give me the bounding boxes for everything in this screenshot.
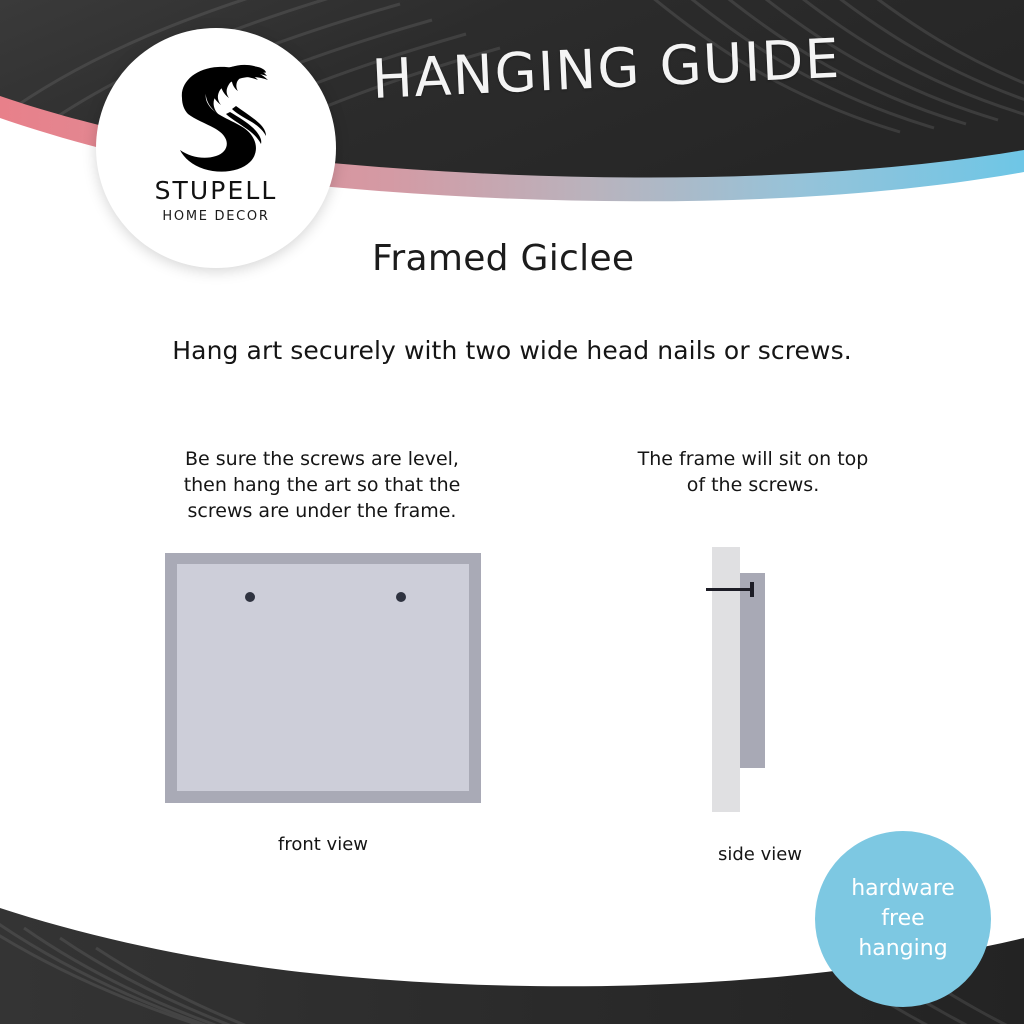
logo-tagline: HOME DECOR xyxy=(162,209,269,224)
page-title: HANGING GUIDE xyxy=(371,24,893,111)
badge-line: hardware xyxy=(851,874,955,904)
stupell-swoosh-logo-icon xyxy=(164,54,268,174)
nail-head-icon xyxy=(750,582,754,597)
caption-line: Be sure the screws are level, xyxy=(152,446,492,472)
side-view-label: side view xyxy=(660,844,860,865)
badge-line: hanging xyxy=(858,934,947,964)
frame-strip xyxy=(740,573,765,768)
caption-line: The frame will sit on top xyxy=(592,446,914,472)
side-view-caption: The frame will sit on top of the screws. xyxy=(592,446,914,498)
caption-line: of the screws. xyxy=(592,472,914,498)
front-view-label: front view xyxy=(165,834,481,855)
hardware-free-hanging-badge: hardware free hanging xyxy=(815,831,991,1007)
screw-dot-right-icon xyxy=(396,592,406,602)
nail-shaft-icon xyxy=(706,588,752,591)
front-view-diagram xyxy=(165,553,481,803)
caption-line: then hang the art so that the xyxy=(152,472,492,498)
logo-wordmark: STUPELL xyxy=(155,176,278,205)
hanging-guide-page: STUPELL HOME DECOR HANGING GUIDE Framed … xyxy=(0,0,1024,1024)
product-type-title: Framed Giclee xyxy=(372,238,634,279)
frame-panel xyxy=(177,564,469,791)
front-view-caption: Be sure the screws are level, then hang … xyxy=(152,446,492,524)
brand-logo-badge: STUPELL HOME DECOR xyxy=(96,28,336,268)
intro-instruction: Hang art securely with two wide head nai… xyxy=(0,336,1024,365)
screw-dot-left-icon xyxy=(245,592,255,602)
wall-strip xyxy=(712,547,740,812)
caption-line: screws are under the frame. xyxy=(152,498,492,524)
side-view-diagram xyxy=(700,547,820,813)
badge-line: free xyxy=(881,904,924,934)
